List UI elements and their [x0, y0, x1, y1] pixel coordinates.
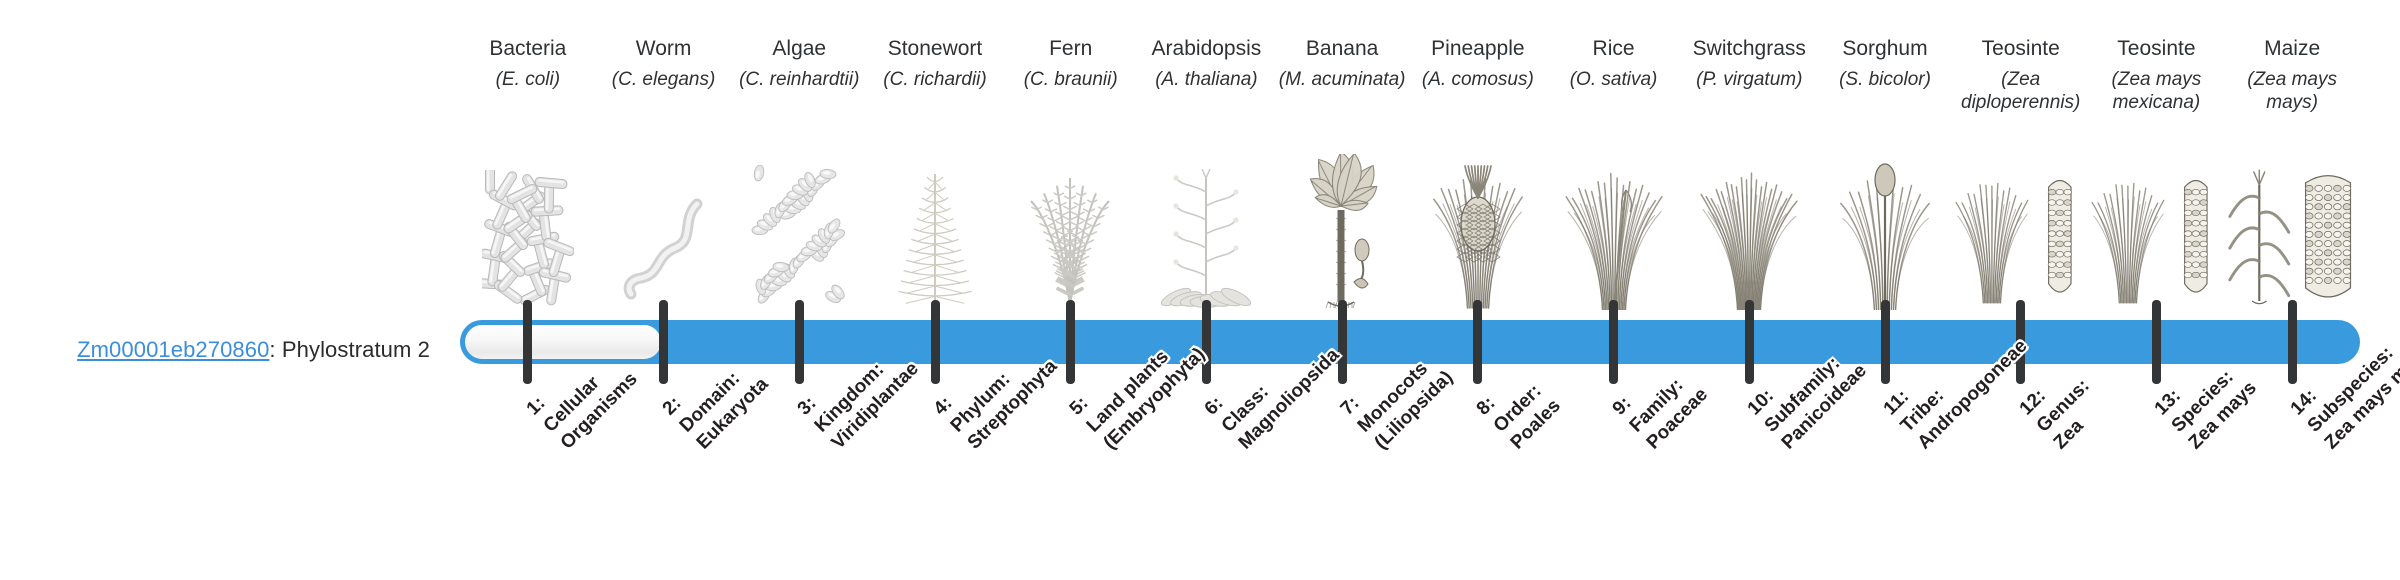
phylostratigraphy-figure: Zm00001eb270860: Phylostratum 2 Bacteria… — [0, 0, 2400, 580]
species-scientific-name: (C. braunii) — [1003, 68, 1139, 91]
species-common-name: Algae — [731, 36, 867, 62]
species-common-name: Worm — [596, 36, 732, 62]
species-scientific-name: (S. bicolor) — [1817, 68, 1953, 91]
species-scientific-name: (C. elegans) — [596, 68, 732, 91]
timeline-tick-1[interactable] — [523, 300, 532, 384]
species-scientific-name: (Zea mays mays) — [2224, 68, 2360, 114]
bacteria-illustration — [482, 170, 574, 310]
species-columns: Bacteria(E. coli) — [460, 0, 2360, 318]
phylostratum-labels: 1:CellularOrganisms2:Domain:Eukaryota3:K… — [0, 404, 2400, 580]
species-common-name: Maize — [2224, 36, 2360, 62]
species-scientific-name: (M. acuminata) — [1274, 68, 1410, 91]
species-common-name: Sorghum — [1817, 36, 1953, 62]
bacteria-illustration — [460, 160, 596, 310]
species-common-name: Arabidopsis — [1139, 36, 1275, 62]
species-common-name: Pineapple — [1410, 36, 1546, 62]
species-common-name: Rice — [1546, 36, 1682, 62]
species-common-name: Banana — [1274, 36, 1410, 62]
species-scientific-name: (O. sativa) — [1546, 68, 1682, 91]
species-common-name: Teosinte — [1953, 36, 2089, 62]
species-scientific-name: (C. reinhardtii) — [731, 68, 867, 91]
species-scientific-name: (E. coli) — [460, 68, 596, 91]
species-common-name: Stonewort — [867, 36, 1003, 62]
species-common-name: Fern — [1003, 36, 1139, 62]
species-column-bacteria-1: Bacteria(E. coli) — [460, 0, 596, 318]
species-common-name: Teosinte — [2089, 36, 2225, 62]
species-scientific-name: (A. comosus) — [1410, 68, 1546, 91]
species-scientific-name: (Zea mays mexicana) — [2089, 68, 2225, 114]
species-scientific-name: (Zea diploperennis) — [1953, 68, 2089, 114]
species-scientific-name: (P. virgatum) — [1681, 68, 1817, 91]
species-scientific-name: (A. thaliana) — [1139, 68, 1275, 91]
species-scientific-name: (C. richardii) — [867, 68, 1003, 91]
species-common-name: Switchgrass — [1681, 36, 1817, 62]
species-common-name: Bacteria — [460, 36, 596, 62]
